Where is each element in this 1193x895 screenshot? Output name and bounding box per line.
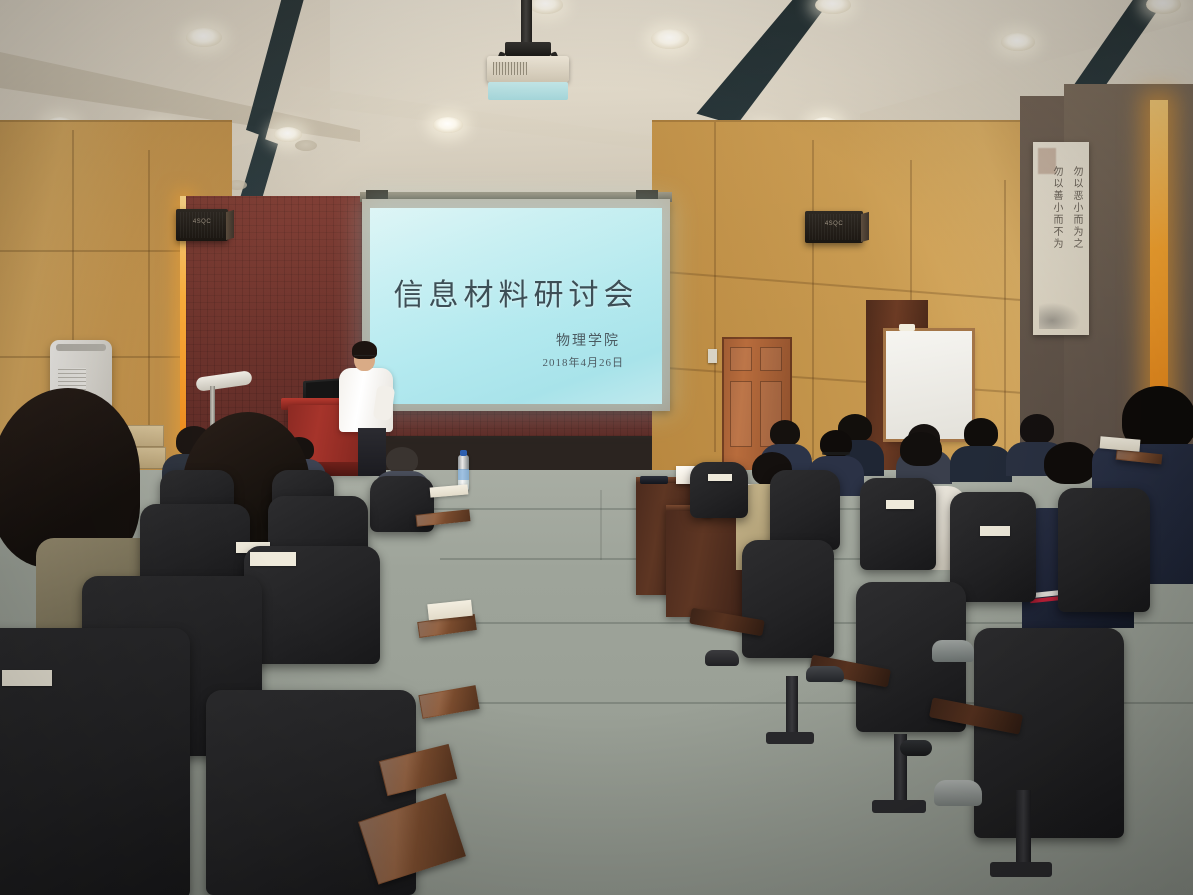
seat-foot: [872, 800, 926, 813]
ceiling-light-icon: [186, 28, 222, 47]
device-on-table: [640, 476, 668, 484]
seat-foot: [766, 732, 814, 744]
projection-screen: 信息材料研讨会 物理学院 2018年4月26日: [370, 208, 662, 404]
slide-organization: 物理学院: [556, 330, 620, 350]
seat-back: [770, 470, 840, 550]
projector-mount: [505, 42, 551, 56]
ac-top-panel: [56, 344, 106, 351]
hair: [1044, 442, 1096, 484]
shoe: [934, 780, 982, 806]
whiteboard: [886, 331, 972, 439]
seat-leg: [786, 676, 798, 738]
auditorium-seat-foreground[interactable]: [0, 628, 190, 895]
ceiling-light-icon: [274, 127, 302, 142]
projector-pole: [521, 0, 532, 46]
seat-number-tag: [708, 474, 732, 481]
speaker-side: [226, 210, 234, 240]
shoe: [705, 650, 739, 666]
seat-number-tag: [886, 500, 914, 509]
auditorium-seat[interactable]: [1058, 488, 1150, 612]
auditorium-seat[interactable]: [770, 470, 840, 550]
scroll-line-1: 勿以恶小而为之: [1071, 166, 1082, 250]
ceiling-light-icon: [529, 0, 563, 14]
calligraphy-scroll: 勿以恶小而为之 勿以善小而不为: [1033, 142, 1089, 335]
auditorium-seat[interactable]: [860, 478, 936, 570]
whiteboard-light-icon: [899, 324, 915, 331]
scroll-text: 勿以恶小而为之: [1070, 166, 1084, 250]
ceiling-light-icon: [1001, 33, 1035, 51]
seat-number-tag: [980, 526, 1010, 536]
projector-vent-icon: [493, 62, 527, 75]
seat-back: [690, 462, 748, 518]
lecture-hall-photo: 信息材料研讨会 物理学院 2018年4月26日 4SQC 4SQC 勿以恶小而为…: [0, 0, 1193, 895]
speaker-side: [861, 212, 869, 242]
presenter-trousers: [358, 428, 386, 476]
seat-foot: [990, 862, 1052, 877]
hair: [770, 420, 800, 446]
scroll-text-2: 勿以善小而不为: [1050, 166, 1064, 250]
seat-back: [742, 540, 834, 658]
shoe: [900, 740, 932, 756]
shoe: [806, 666, 844, 682]
speaker-logo: 4SQC: [825, 221, 843, 227]
auditorium-seat-foreground[interactable]: [742, 540, 834, 658]
seat-back: [0, 628, 190, 895]
shoe: [932, 640, 974, 662]
seat-back: [974, 628, 1124, 838]
hair: [964, 418, 998, 448]
projector-lens-icon: [488, 82, 568, 100]
door-card-reader-icon: [708, 349, 717, 363]
ceiling-light-icon: [651, 29, 689, 49]
bottle-label: [458, 469, 469, 480]
shoulders: [950, 446, 1012, 482]
seat-back: [860, 478, 936, 570]
glasses-icon: [354, 355, 375, 360]
glasses-icon: [822, 452, 850, 455]
wall-speaker-left: 4SQC: [176, 209, 228, 241]
auditorium-seat-foreground[interactable]: [974, 628, 1124, 838]
seat-number-tag: [2, 670, 52, 686]
wall-speaker-right: 4SQC: [805, 211, 863, 243]
auditorium-seat[interactable]: [690, 462, 748, 518]
scroll-line-2: 勿以善小而不为: [1051, 166, 1062, 250]
slide-title: 信息材料研讨会: [370, 270, 662, 314]
ceiling-light-off-icon: [295, 140, 317, 151]
hair: [900, 432, 942, 466]
bottle-cap-icon: [460, 450, 467, 456]
cove-light-right: [1150, 100, 1168, 430]
speaker-logo: 4SQC: [193, 219, 211, 225]
hair: [386, 447, 418, 473]
scroll-ink-wash: [1039, 301, 1083, 329]
auditorium-seat[interactable]: [244, 546, 380, 664]
seat-back: [1058, 488, 1150, 612]
hair: [1020, 414, 1054, 444]
ceiling-light-icon: [433, 117, 463, 133]
slide-date: 2018年4月26日: [543, 354, 625, 370]
seat-number-tag: [250, 552, 296, 566]
